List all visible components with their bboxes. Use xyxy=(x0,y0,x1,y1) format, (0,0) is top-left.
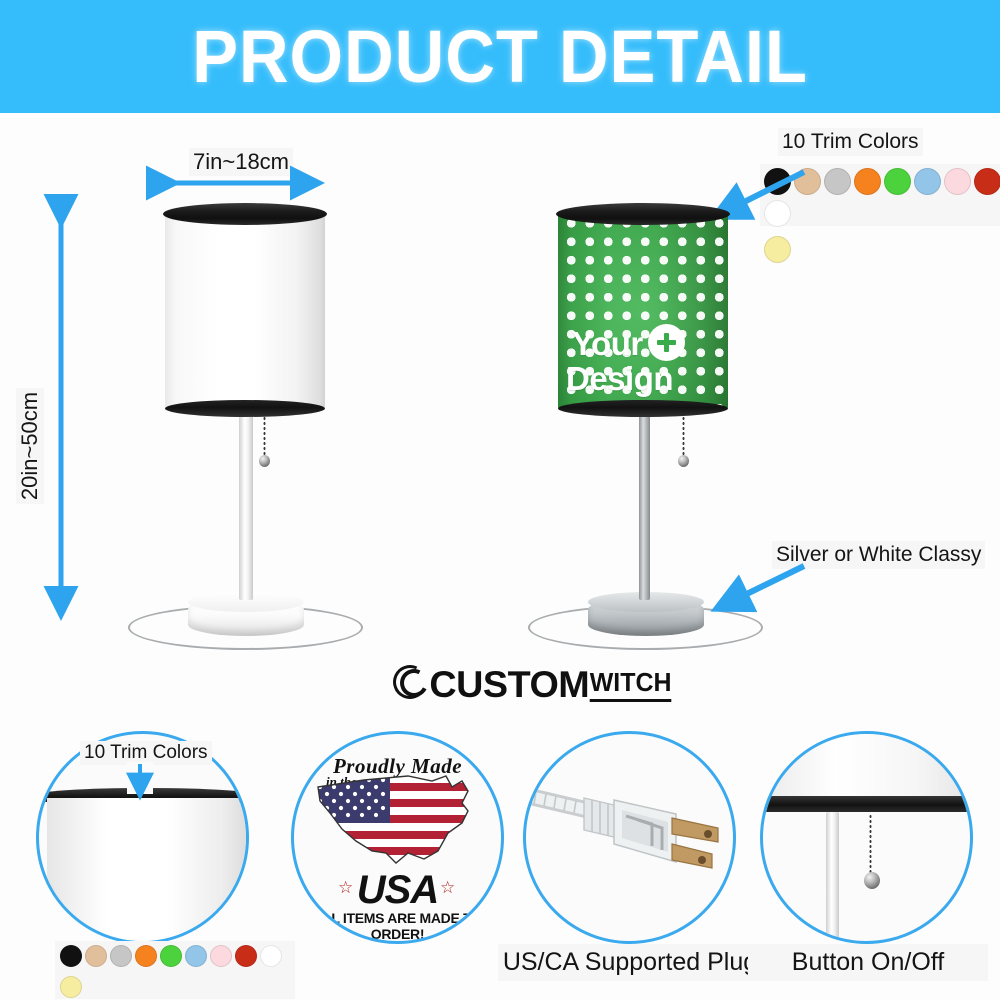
lamp-white-trim-top xyxy=(163,203,327,225)
swatch-light-blue[interactable] xyxy=(914,168,941,195)
lamp-green-shade: Your Design xyxy=(558,212,728,410)
trim-swatch-row-bottom xyxy=(55,941,295,999)
feature-circle-made-in-usa: Proudly Made in the xyxy=(291,731,504,944)
lamp-white-shade xyxy=(165,212,325,410)
feature-trim-shade xyxy=(47,798,247,944)
swatch-bottom-light-blue[interactable] xyxy=(185,945,207,967)
lamp-white-chain-ball[interactable] xyxy=(259,455,270,467)
switch-pole xyxy=(826,812,839,944)
lamp-white-trim-bottom xyxy=(165,400,325,417)
product-detail-infographic: PRODUCT DETAIL 10 Trim Colors 7in~18cm 2… xyxy=(0,0,1000,1000)
switch-shade-preview xyxy=(760,734,973,796)
swatch-bottom-black[interactable] xyxy=(60,945,82,967)
lamp-green-pole xyxy=(639,415,650,600)
lamp-green-pull-chain[interactable] xyxy=(682,416,685,459)
power-plug-icon xyxy=(526,734,736,944)
lamp-green-trim-bottom xyxy=(558,400,728,417)
swatch-bottom-orange[interactable] xyxy=(135,945,157,967)
down-arrow-icon xyxy=(127,762,153,804)
usa-badge-line-sub: ALL ITEMS ARE MADE TO ORDER! xyxy=(294,910,501,942)
swatch-green[interactable] xyxy=(884,168,911,195)
lamp-green-trim-top xyxy=(556,203,730,225)
feature-plug-label: US/CA Supported Plug xyxy=(498,944,762,981)
swatch-bottom-tan[interactable] xyxy=(85,945,107,967)
pull-chain-icon[interactable] xyxy=(869,814,872,876)
brand-logo: CUSTOMWITCH xyxy=(393,664,673,706)
switch-trim-band xyxy=(760,796,973,812)
swatch-bottom-gray[interactable] xyxy=(110,945,132,967)
plus-icon xyxy=(648,324,685,361)
design-text-line1: Your xyxy=(572,325,643,363)
feature-switch-label: Button On/Off xyxy=(748,944,988,981)
lamp-white-pull-chain[interactable] xyxy=(263,416,266,459)
swatch-bottom-white[interactable] xyxy=(260,945,282,967)
base-finish-arrow xyxy=(700,560,810,620)
feature-circle-switch xyxy=(760,731,973,944)
swatch-pink[interactable] xyxy=(944,168,971,195)
feature-circle-plug xyxy=(523,731,736,944)
brand-name-secondary: WITCH xyxy=(589,667,671,702)
usa-star-right: ☆ xyxy=(440,878,455,898)
swatch-red[interactable] xyxy=(974,168,1000,195)
usa-badge-line-big: USA xyxy=(294,868,501,913)
swatch-bottom-red[interactable] xyxy=(235,945,257,967)
custom-c-logo-icon xyxy=(393,665,431,703)
brand-name-primary: CUSTOM xyxy=(429,664,589,706)
switch-chain-ball[interactable] xyxy=(864,872,880,889)
usa-flag-map-icon xyxy=(312,767,490,873)
swatch-bottom-pink[interactable] xyxy=(210,945,232,967)
lamp-green-chain-ball[interactable] xyxy=(678,455,689,467)
lamp-white xyxy=(0,0,420,680)
swatch-bottom-green[interactable] xyxy=(160,945,182,967)
swatch-bottom-yellow[interactable] xyxy=(60,976,82,998)
design-text-line2: Design xyxy=(566,360,673,398)
lamp-white-pole xyxy=(239,415,253,600)
